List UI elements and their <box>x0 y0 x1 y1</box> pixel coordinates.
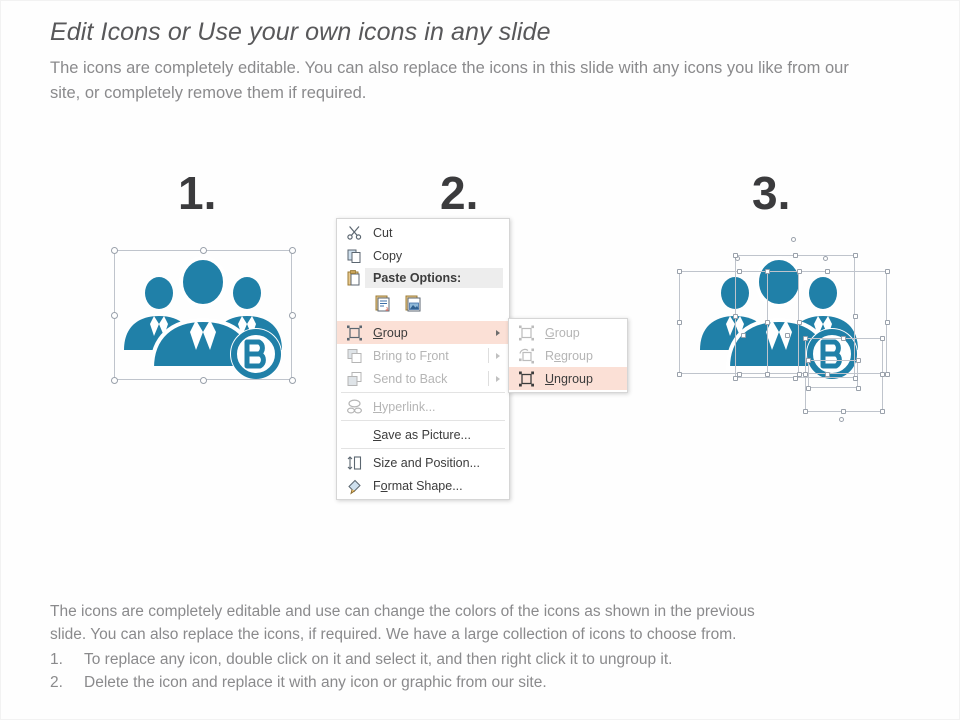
subselection-handle[interactable] <box>737 269 742 274</box>
menu-item-copy[interactable]: Copy <box>337 244 509 267</box>
menu-label: Ungroup <box>545 372 593 386</box>
subselection-handle[interactable] <box>765 372 770 377</box>
menu-label: Save as Picture... <box>373 428 471 442</box>
subselection-handle[interactable] <box>803 372 808 377</box>
step-number-1: 1. <box>178 170 216 216</box>
list-item-text: To replace any icon, double click on it … <box>84 648 672 671</box>
rotate-handle[interactable] <box>839 417 844 422</box>
menu-item-paste-options: Paste Options: <box>337 268 509 289</box>
subselection-handle[interactable] <box>880 336 885 341</box>
paste-options-header: Paste Options: <box>365 268 503 288</box>
subselection-handle[interactable] <box>885 269 890 274</box>
clipboard-icon <box>345 269 364 288</box>
subselection-handle[interactable] <box>841 409 846 414</box>
subselection-handle[interactable] <box>733 253 738 258</box>
subselection-handle[interactable] <box>733 376 738 381</box>
subselection-handle[interactable] <box>806 358 811 363</box>
menu-label: Regroup <box>545 349 593 363</box>
hyperlink-icon <box>345 397 364 416</box>
step-number-3: 3. <box>752 170 790 216</box>
divider <box>488 348 489 363</box>
menu-item-cut[interactable]: Cut <box>337 221 509 244</box>
chevron-right-icon <box>496 353 500 359</box>
step-number-2: 2. <box>440 170 478 216</box>
subselection-handle[interactable] <box>793 376 798 381</box>
page-subtitle: The icons are completely editable. You c… <box>50 56 880 106</box>
list-item: 2. Delete the icon and replace it with a… <box>50 671 940 694</box>
subselection-handle[interactable] <box>765 320 770 325</box>
list-item: 1. To replace any icon, double click on … <box>50 648 940 671</box>
selection-frame-grouped[interactable] <box>114 250 292 380</box>
list-item-number: 2. <box>50 671 84 694</box>
subselection-handle[interactable] <box>733 314 738 319</box>
page-title: Edit Icons or Use your own icons in any … <box>50 18 551 47</box>
size-position-icon <box>345 453 364 472</box>
menu-label: Copy <box>373 249 402 263</box>
menu-item-group[interactable]: Group <box>337 321 509 344</box>
menu-label: Format Shape... <box>373 479 463 493</box>
format-shape-icon <box>345 476 364 495</box>
rotate-handle[interactable] <box>791 237 796 242</box>
menu-label: Group <box>373 326 408 340</box>
paste-options-icons: a <box>337 289 509 321</box>
subselection-handle[interactable] <box>885 320 890 325</box>
menu-label: Cut <box>373 226 392 240</box>
context-menu[interactable]: Cut Copy Paste Options: <box>336 218 510 500</box>
copy-icon <box>345 246 364 265</box>
menu-separator <box>341 392 505 393</box>
selection-handle-sw[interactable] <box>111 377 118 384</box>
selection-handle-nw[interactable] <box>111 247 118 254</box>
selection-handle-e[interactable] <box>289 312 296 319</box>
selection-handle-w[interactable] <box>111 312 118 319</box>
subselection-handle[interactable] <box>880 409 885 414</box>
menu-item-save-as-picture[interactable]: Save as Picture... <box>337 423 509 446</box>
group-icon <box>517 323 536 342</box>
subselection-handle[interactable] <box>765 269 770 274</box>
subselection-handle[interactable] <box>677 269 682 274</box>
subselection-handle[interactable] <box>806 386 811 391</box>
submenu-item-group[interactable]: Group <box>509 321 627 344</box>
subselection-handle[interactable] <box>803 409 808 414</box>
menu-label: Bring to Front <box>373 349 449 363</box>
subselection-handle[interactable] <box>825 372 830 377</box>
menu-item-send-to-back[interactable]: Send to Back <box>337 367 509 390</box>
subselection-handle[interactable] <box>741 333 746 338</box>
menu-item-size-and-position[interactable]: Size and Position... <box>337 451 509 474</box>
list-item-text: Delete the icon and replace it with any … <box>84 671 547 694</box>
subselection-handle[interactable] <box>880 372 885 377</box>
bring-to-front-icon <box>345 346 364 365</box>
selection-handle-n[interactable] <box>200 247 207 254</box>
subselection-handle[interactable] <box>677 320 682 325</box>
divider <box>488 371 489 386</box>
subselection-handle[interactable] <box>803 336 808 341</box>
menu-item-format-shape[interactable]: Format Shape... <box>337 474 509 497</box>
ungroup-icon <box>517 369 536 388</box>
selection-handle-se[interactable] <box>289 377 296 384</box>
slide-canvas: Edit Icons or Use your own icons in any … <box>0 0 960 720</box>
paste-keep-text-icon[interactable]: a <box>373 293 393 316</box>
submenu-item-ungroup[interactable]: Ungroup <box>509 367 627 390</box>
regroup-icon <box>517 346 536 365</box>
list-item-number: 1. <box>50 648 84 671</box>
menu-label: Send to Back <box>373 372 447 386</box>
menu-label: Hyperlink... <box>373 400 436 414</box>
menu-label: Size and Position... <box>373 456 480 470</box>
scissors-icon <box>345 223 364 242</box>
subselection-frame-tie[interactable] <box>808 360 858 388</box>
send-to-back-icon <box>345 369 364 388</box>
rotate-handle[interactable] <box>823 256 828 261</box>
subselection-handle[interactable] <box>856 358 861 363</box>
group-icon <box>345 323 364 342</box>
subselection-handle[interactable] <box>793 253 798 258</box>
menu-item-bring-to-front[interactable]: Bring to Front <box>337 344 509 367</box>
footer-list: 1. To replace any icon, double click on … <box>50 648 940 694</box>
menu-item-hyperlink[interactable]: Hyperlink... <box>337 395 509 418</box>
subselection-handle[interactable] <box>797 269 802 274</box>
submenu-item-regroup[interactable]: Regroup <box>509 344 627 367</box>
group-submenu[interactable]: Group Regroup Ungroup <box>508 318 628 393</box>
subselection-handle[interactable] <box>885 372 890 377</box>
paste-picture-icon[interactable] <box>403 293 423 316</box>
chevron-right-icon <box>496 330 500 336</box>
menu-label: Group <box>545 326 580 340</box>
footer-line-1: The icons are completely editable and us… <box>50 600 940 623</box>
subselection-handle[interactable] <box>856 386 861 391</box>
subselection-handle[interactable] <box>853 253 858 258</box>
chevron-right-icon <box>496 376 500 382</box>
subselection-handle[interactable] <box>841 336 846 341</box>
footer-text-block: The icons are completely editable and us… <box>50 600 940 694</box>
selection-handle-s[interactable] <box>200 377 207 384</box>
subselection-handle[interactable] <box>785 333 790 338</box>
subselection-handle[interactable] <box>825 269 830 274</box>
footer-line-2: slide. You can also replace the icons, i… <box>50 623 940 646</box>
subselection-handle[interactable] <box>677 372 682 377</box>
selection-handle-ne[interactable] <box>289 247 296 254</box>
menu-separator <box>341 448 505 449</box>
menu-separator <box>341 420 505 421</box>
subselection-handle[interactable] <box>853 314 858 319</box>
subselection-handle[interactable] <box>797 320 802 325</box>
subselection-handle[interactable] <box>853 376 858 381</box>
